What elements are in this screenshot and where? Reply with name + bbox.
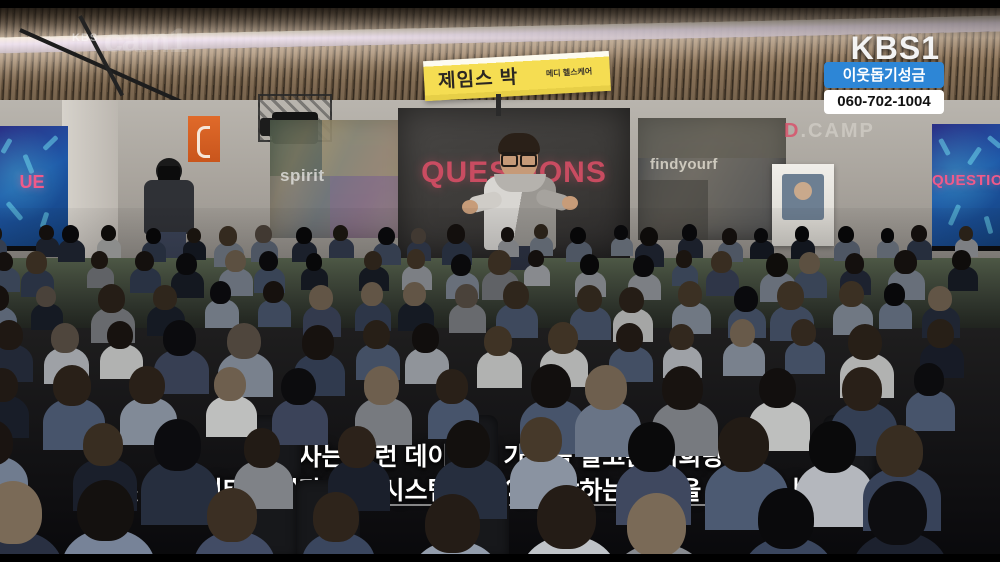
speaker-glasses: [501, 152, 537, 163]
audience-head: [313, 492, 359, 541]
audience-head: [259, 251, 278, 272]
audience-head: [911, 225, 927, 242]
stage-banner-subtitle: 메디 헬스케어: [546, 66, 593, 80]
audience-head: [302, 325, 334, 359]
audience-head: [914, 363, 945, 396]
audience-head: [36, 286, 56, 308]
audience-head: [894, 250, 916, 274]
audience-head: [577, 285, 602, 312]
audience-head: [640, 227, 658, 247]
audience-head: [83, 423, 123, 466]
audience-head: [412, 323, 439, 353]
audience-head: [263, 281, 283, 303]
audience-head: [255, 225, 271, 243]
audience-head: [845, 253, 864, 274]
audience-head: [884, 283, 904, 305]
audience-head: [633, 255, 654, 277]
audience-head: [534, 224, 548, 240]
audience-head: [210, 281, 231, 304]
audience-head: [876, 425, 924, 477]
kbs-watermark-small: KBS: [72, 32, 98, 44]
letterbox-top: [0, 0, 1000, 8]
audience-head: [364, 251, 382, 271]
audience-head: [842, 367, 882, 411]
audience-head: [484, 326, 512, 356]
audience-head: [795, 226, 810, 242]
tv-broadcast-screenshot: spirit QUESTIONS findyourf D.CAMP: [0, 0, 1000, 562]
audience-head: [678, 281, 702, 307]
stage-banner-name: 제임스 박: [437, 62, 519, 93]
audience-head: [766, 253, 788, 277]
audience-head: [446, 420, 491, 468]
audience-head: [62, 225, 79, 243]
audience-head: [619, 287, 644, 314]
audience-head: [101, 225, 116, 241]
audience-head: [758, 488, 814, 549]
donation-overlay: 이웃돕기성금 060-702-1004: [824, 62, 944, 114]
audience-head: [306, 253, 323, 271]
audience-head: [91, 251, 108, 269]
audience-head: [146, 228, 161, 244]
orange-wall-sign: [188, 116, 220, 162]
letterbox-bottom: [0, 554, 1000, 562]
collage-patch: [322, 120, 406, 176]
audience-head: [520, 417, 562, 462]
audience-head: [403, 282, 425, 306]
audience-head: [214, 367, 246, 401]
audience-head: [77, 480, 134, 542]
audience-head: [503, 281, 529, 309]
audience-head: [669, 324, 694, 351]
audience-head: [26, 251, 47, 273]
banner-pole: [496, 94, 501, 116]
audience-head: [676, 250, 692, 268]
dcamp-accent-letter: D: [784, 120, 800, 142]
audience-head: [98, 284, 125, 313]
audience-head: [488, 250, 511, 275]
audience-head: [411, 228, 426, 244]
audience-head: [455, 284, 477, 308]
audience-head: [537, 485, 596, 549]
audience-head: [364, 366, 400, 404]
audience-head: [39, 225, 53, 240]
audience-head: [730, 319, 756, 347]
audience-head: [309, 285, 332, 310]
audience-head: [225, 250, 246, 273]
audience-head: [791, 319, 816, 346]
audience-head: [799, 252, 820, 274]
audience-head: [436, 369, 468, 403]
monitor-right-text: QUESTIONS: [932, 172, 1000, 189]
audience-head: [682, 224, 697, 241]
audience-head: [378, 227, 395, 246]
audience-head: [447, 224, 466, 244]
audience-head: [959, 226, 973, 241]
audience-shoulders: [258, 299, 291, 327]
audience-head: [759, 368, 797, 409]
audience-head: [580, 254, 599, 275]
audience-head: [244, 428, 280, 467]
audience-head: [531, 364, 572, 408]
audience-head: [154, 419, 202, 470]
audience-head: [227, 323, 261, 359]
audience-head: [207, 488, 257, 542]
audience-head: [153, 285, 176, 310]
audience-head: [333, 225, 348, 241]
audience-head: [848, 324, 882, 360]
audience-head: [548, 322, 578, 354]
audience-head: [528, 250, 544, 268]
donation-phone-number: 060-702-1004: [824, 90, 944, 114]
audience-head: [51, 323, 79, 353]
monitor-left-text: UE: [0, 172, 68, 193]
audience-head: [361, 282, 383, 306]
audience-head: [718, 417, 769, 472]
audience-head: [129, 366, 164, 404]
donation-header-label: 이웃돕기성금: [824, 62, 944, 88]
audience-head: [616, 323, 643, 352]
audience-head: [296, 227, 311, 244]
audience-head: [451, 254, 471, 276]
audience-shoulders: [611, 237, 633, 256]
audience-head: [754, 228, 768, 243]
audience-head: [281, 368, 316, 406]
audience-head: [809, 421, 857, 473]
audience-head: [662, 366, 703, 410]
audience-head: [163, 320, 197, 356]
audience-head: [135, 251, 154, 272]
audience-head: [363, 320, 390, 349]
audience-head: [53, 365, 91, 406]
audience-crowd: [0, 208, 1000, 554]
audience-head: [425, 494, 480, 553]
collage-patch: [638, 118, 786, 158]
audience-head: [928, 286, 951, 311]
audience-head: [187, 228, 201, 244]
audience-head: [107, 321, 133, 349]
dcamp-venue-sign: D.CAMP: [784, 120, 875, 143]
audience-head: [838, 226, 854, 243]
collage-right-word: findyourf: [650, 156, 718, 173]
audience-head: [711, 251, 731, 273]
audience-head: [628, 422, 674, 472]
audience-head: [927, 319, 954, 348]
audience-head: [734, 286, 758, 311]
audience-head: [176, 253, 197, 275]
audience-head: [868, 481, 927, 545]
audience-head: [219, 226, 237, 246]
kbs-watermark-big: cam1: [104, 22, 187, 61]
audience-head: [839, 281, 864, 308]
audience-head: [722, 228, 737, 245]
audience-head: [614, 225, 628, 240]
collage-left-word: spirit: [280, 166, 325, 186]
audience-head: [627, 493, 686, 554]
audience-head: [952, 250, 970, 270]
audience-head: [881, 228, 894, 243]
audience-head: [585, 365, 626, 410]
audience-head: [570, 227, 586, 244]
dcamp-rest: .CAMP: [800, 120, 874, 142]
audience-head: [777, 281, 804, 310]
audience-head: [338, 426, 376, 467]
audience-head: [501, 227, 514, 241]
audience-head: [407, 249, 425, 269]
